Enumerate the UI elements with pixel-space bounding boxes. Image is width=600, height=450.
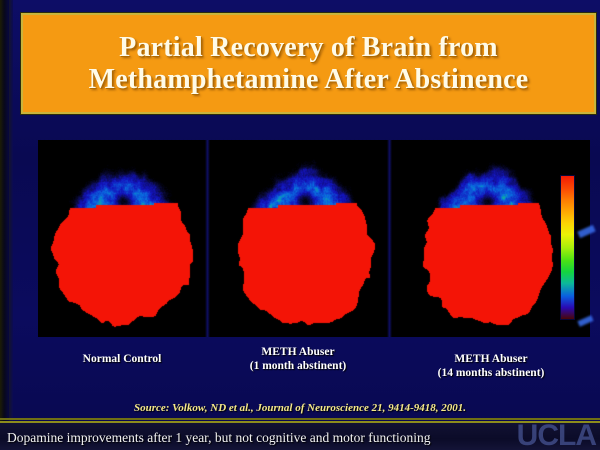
panel-seam-2: [387, 140, 392, 337]
scan-label-meth-14-months: METH Abuser (14 months abstinent): [392, 352, 590, 380]
source-citation: Source: Volkow, ND et al., Journal of Ne…: [0, 402, 600, 414]
panel-seam-1: [205, 140, 210, 337]
scan-label-meth-1-month: METH Abuser (1 month abstinent): [210, 345, 386, 373]
slide-left-edge-strip-inner: [9, 0, 13, 450]
slide-left-edge-strip: [0, 0, 9, 450]
caption-text: Dopamine improvements after 1 year, but …: [0, 430, 430, 446]
brain-scan-panel: [38, 140, 590, 337]
title-banner: Partial Recovery of Brain from Methamphe…: [21, 13, 596, 114]
brain-scan-meth-1-month-image: [220, 140, 390, 337]
ucla-logo-watermark: UCLA: [517, 419, 596, 450]
caption-bar: Dopamine improvements after 1 year, but …: [0, 421, 600, 450]
slide-title: Partial Recovery of Brain from Methamphe…: [83, 32, 535, 95]
brain-scan-normal-control-image: [38, 140, 208, 337]
presentation-slide: Partial Recovery of Brain from Methamphe…: [0, 0, 600, 450]
intensity-colorbar: [560, 175, 575, 320]
caption-divider: [0, 418, 600, 420]
brain-scan-meth-14-months-image: [402, 140, 572, 337]
scan-label-normal-control: Normal Control: [38, 352, 206, 366]
